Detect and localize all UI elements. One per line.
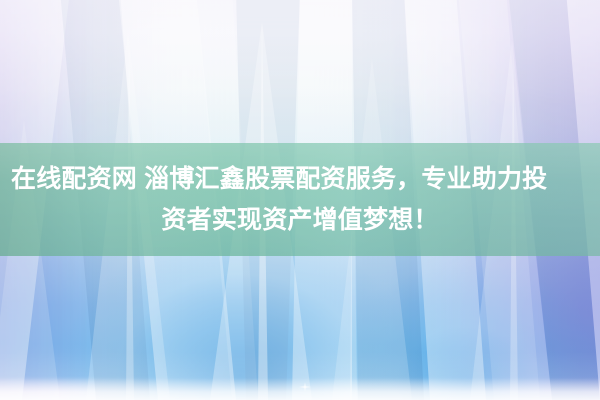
sparkle-highlight [296,380,314,394]
headline-line-1: 在线配资网 淄博汇鑫股票配资服务，专业助力投 [9,159,591,200]
headline-line-2: 资者实现资产增值梦想！ [10,200,590,241]
headline-text: 在线配资网 淄博汇鑫股票配资服务，专业助力投 资者实现资产增值梦想！ [0,143,600,256]
promo-banner: 在线配资网 淄博汇鑫股票配资服务，专业助力投 资者实现资产增值梦想！ [0,0,600,400]
